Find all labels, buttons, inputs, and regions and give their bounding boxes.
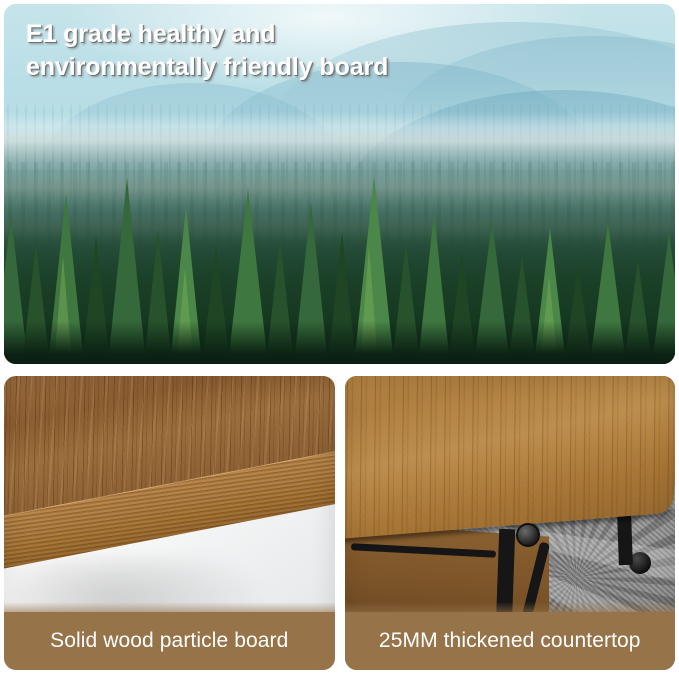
feature-panel-row: Solid wood particle board 25MM thickened… [4,376,675,670]
forest-floor-shadow [4,321,675,364]
panel-thickened-countertop: 25MM thickened countertop [345,376,676,670]
banner-title: E1 grade healthy and environmentally fri… [26,18,388,84]
foreground-forest [4,126,675,364]
panel-caption-right: 25MM thickened countertop [345,612,676,670]
panel-solid-wood-particle-board: Solid wood particle board [4,376,335,670]
caption-shade [4,602,335,612]
forest-banner-card: E1 grade healthy and environmentally fri… [4,4,675,364]
caption-shade [345,602,676,612]
product-feature-collage: E1 grade healthy and environmentally fri… [0,0,679,674]
panel-caption-left: Solid wood particle board [4,612,335,670]
